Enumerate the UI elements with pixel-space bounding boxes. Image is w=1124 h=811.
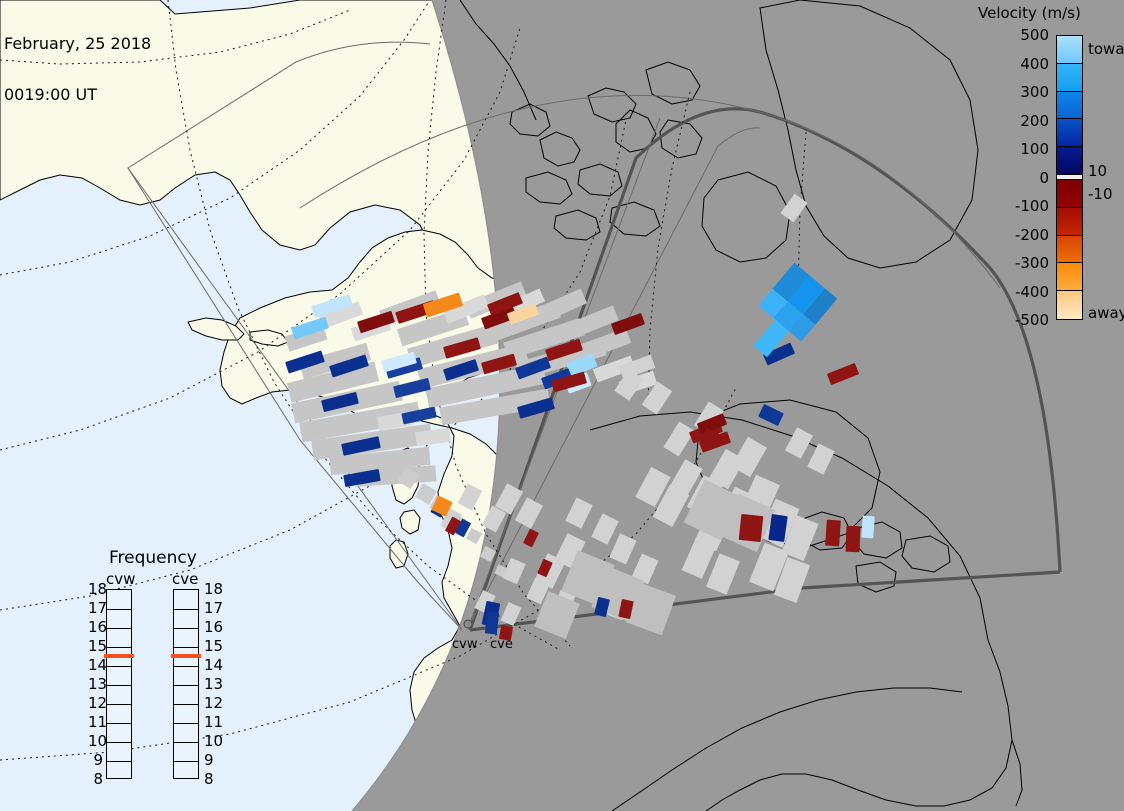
colorbar-tick-label: -300 bbox=[975, 254, 1049, 272]
colorbar-segment bbox=[1057, 147, 1082, 175]
frequency-bar-divider bbox=[107, 628, 131, 629]
frequency-tick-label-cvw: 8 bbox=[88, 770, 103, 788]
colorbar-tick-label: 200 bbox=[975, 112, 1049, 130]
frequency-bar-divider bbox=[107, 742, 131, 743]
colorbar-tick-label: 100 bbox=[975, 140, 1049, 158]
frequency-tick-label-cvw: 16 bbox=[88, 618, 103, 636]
colorbar-segment bbox=[1057, 263, 1082, 291]
frequency-tick-label-cve: 18 bbox=[204, 580, 223, 598]
frequency-bar-divider bbox=[107, 647, 131, 648]
frequency-column-label-cve: cve bbox=[172, 570, 198, 588]
frequency-marker-cvw bbox=[104, 654, 134, 658]
frequency-bar-divider bbox=[107, 723, 131, 724]
colorbar-tick-label: -500 bbox=[975, 311, 1049, 329]
frequency-bar-divider bbox=[174, 761, 198, 762]
colorbar-tick-label: -400 bbox=[975, 283, 1049, 301]
radar-site-marker bbox=[464, 620, 472, 628]
velocity-inner-high-label: 10 bbox=[1088, 162, 1107, 180]
frequency-bar-divider bbox=[174, 723, 198, 724]
frequency-bar-divider bbox=[174, 609, 198, 610]
frequency-tick-label-cvw: 9 bbox=[88, 751, 103, 769]
velocity-legend-title: Velocity (m/s) bbox=[978, 4, 1081, 22]
title-time: 0019:00 UT bbox=[4, 86, 151, 103]
frequency-bar-divider bbox=[174, 647, 198, 648]
frequency-bar-divider bbox=[174, 704, 198, 705]
frequency-tick-label-cvw: 18 bbox=[88, 580, 103, 598]
frequency-marker-cve bbox=[171, 654, 201, 658]
frequency-tick-label-cve: 10 bbox=[204, 732, 223, 750]
velocity-inner-low-label: -10 bbox=[1088, 185, 1113, 203]
frequency-bar-divider bbox=[174, 742, 198, 743]
frequency-tick-label-cvw: 12 bbox=[88, 694, 103, 712]
site-label-cvw: cvw bbox=[452, 637, 477, 652]
frequency-bar-cve bbox=[173, 589, 199, 779]
timestamp-title: February, 25 2018 0019:00 UT bbox=[4, 1, 151, 137]
colorbar-tick-label: -200 bbox=[975, 226, 1049, 244]
colorbar-segment bbox=[1057, 92, 1082, 120]
frequency-column-label-cvw: cvw bbox=[106, 570, 135, 588]
frequency-tick-label-cve: 13 bbox=[204, 675, 223, 693]
colorbar-segment bbox=[1057, 291, 1082, 319]
frequency-tick-label-cve: 14 bbox=[204, 656, 223, 674]
frequency-tick-label-cve: 16 bbox=[204, 618, 223, 636]
colorbar-segment bbox=[1057, 119, 1082, 147]
frequency-bar-divider bbox=[174, 628, 198, 629]
colorbar-tick-label: 300 bbox=[975, 83, 1049, 101]
frequency-bar-divider bbox=[174, 685, 198, 686]
frequency-bar-divider bbox=[107, 761, 131, 762]
frequency-bar-divider bbox=[107, 666, 131, 667]
radar-map-figure: February, 25 2018 0019:00 UT cvw cve Vel… bbox=[0, 0, 1124, 811]
frequency-bar-divider bbox=[107, 685, 131, 686]
frequency-bar-divider bbox=[107, 609, 131, 610]
colorbar-segment bbox=[1057, 236, 1082, 264]
colorbar-tick-label: 0 bbox=[975, 169, 1049, 187]
colorbar-tick-label: -100 bbox=[975, 197, 1049, 215]
colorbar-tick-label: 400 bbox=[975, 55, 1049, 73]
title-date: February, 25 2018 bbox=[4, 35, 151, 52]
frequency-tick-label-cve: 15 bbox=[204, 637, 223, 655]
frequency-tick-label-cvw: 13 bbox=[88, 675, 103, 693]
frequency-bar-divider bbox=[174, 666, 198, 667]
frequency-tick-label-cve: 11 bbox=[204, 713, 223, 731]
site-label-cve: cve bbox=[490, 637, 513, 652]
frequency-tick-label-cve: 17 bbox=[204, 599, 223, 617]
colorbar-segment bbox=[1057, 64, 1082, 92]
frequency-tick-label-cvw: 11 bbox=[88, 713, 103, 731]
velocity-toward-label: toward bbox=[1088, 40, 1124, 58]
frequency-tick-label-cvw: 14 bbox=[88, 656, 103, 674]
frequency-tick-label-cvw: 17 bbox=[88, 599, 103, 617]
frequency-tick-label-cve: 12 bbox=[204, 694, 223, 712]
frequency-tick-label-cve: 8 bbox=[204, 770, 214, 788]
colorbar-segment bbox=[1057, 36, 1082, 64]
frequency-legend-title: Frequency bbox=[109, 548, 197, 568]
frequency-tick-label-cve: 9 bbox=[204, 751, 214, 769]
frequency-tick-label-cvw: 10 bbox=[88, 732, 103, 750]
map-canvas bbox=[0, 0, 1124, 811]
colorbar-segment bbox=[1057, 208, 1082, 236]
velocity-away-label: away bbox=[1088, 304, 1124, 322]
velocity-colorbar bbox=[1056, 35, 1083, 320]
colorbar-tick-label: 500 bbox=[975, 26, 1049, 44]
frequency-tick-label-cvw: 15 bbox=[88, 637, 103, 655]
frequency-bar-divider bbox=[107, 704, 131, 705]
frequency-bar-cvw bbox=[106, 589, 132, 779]
colorbar-segment bbox=[1057, 180, 1082, 208]
